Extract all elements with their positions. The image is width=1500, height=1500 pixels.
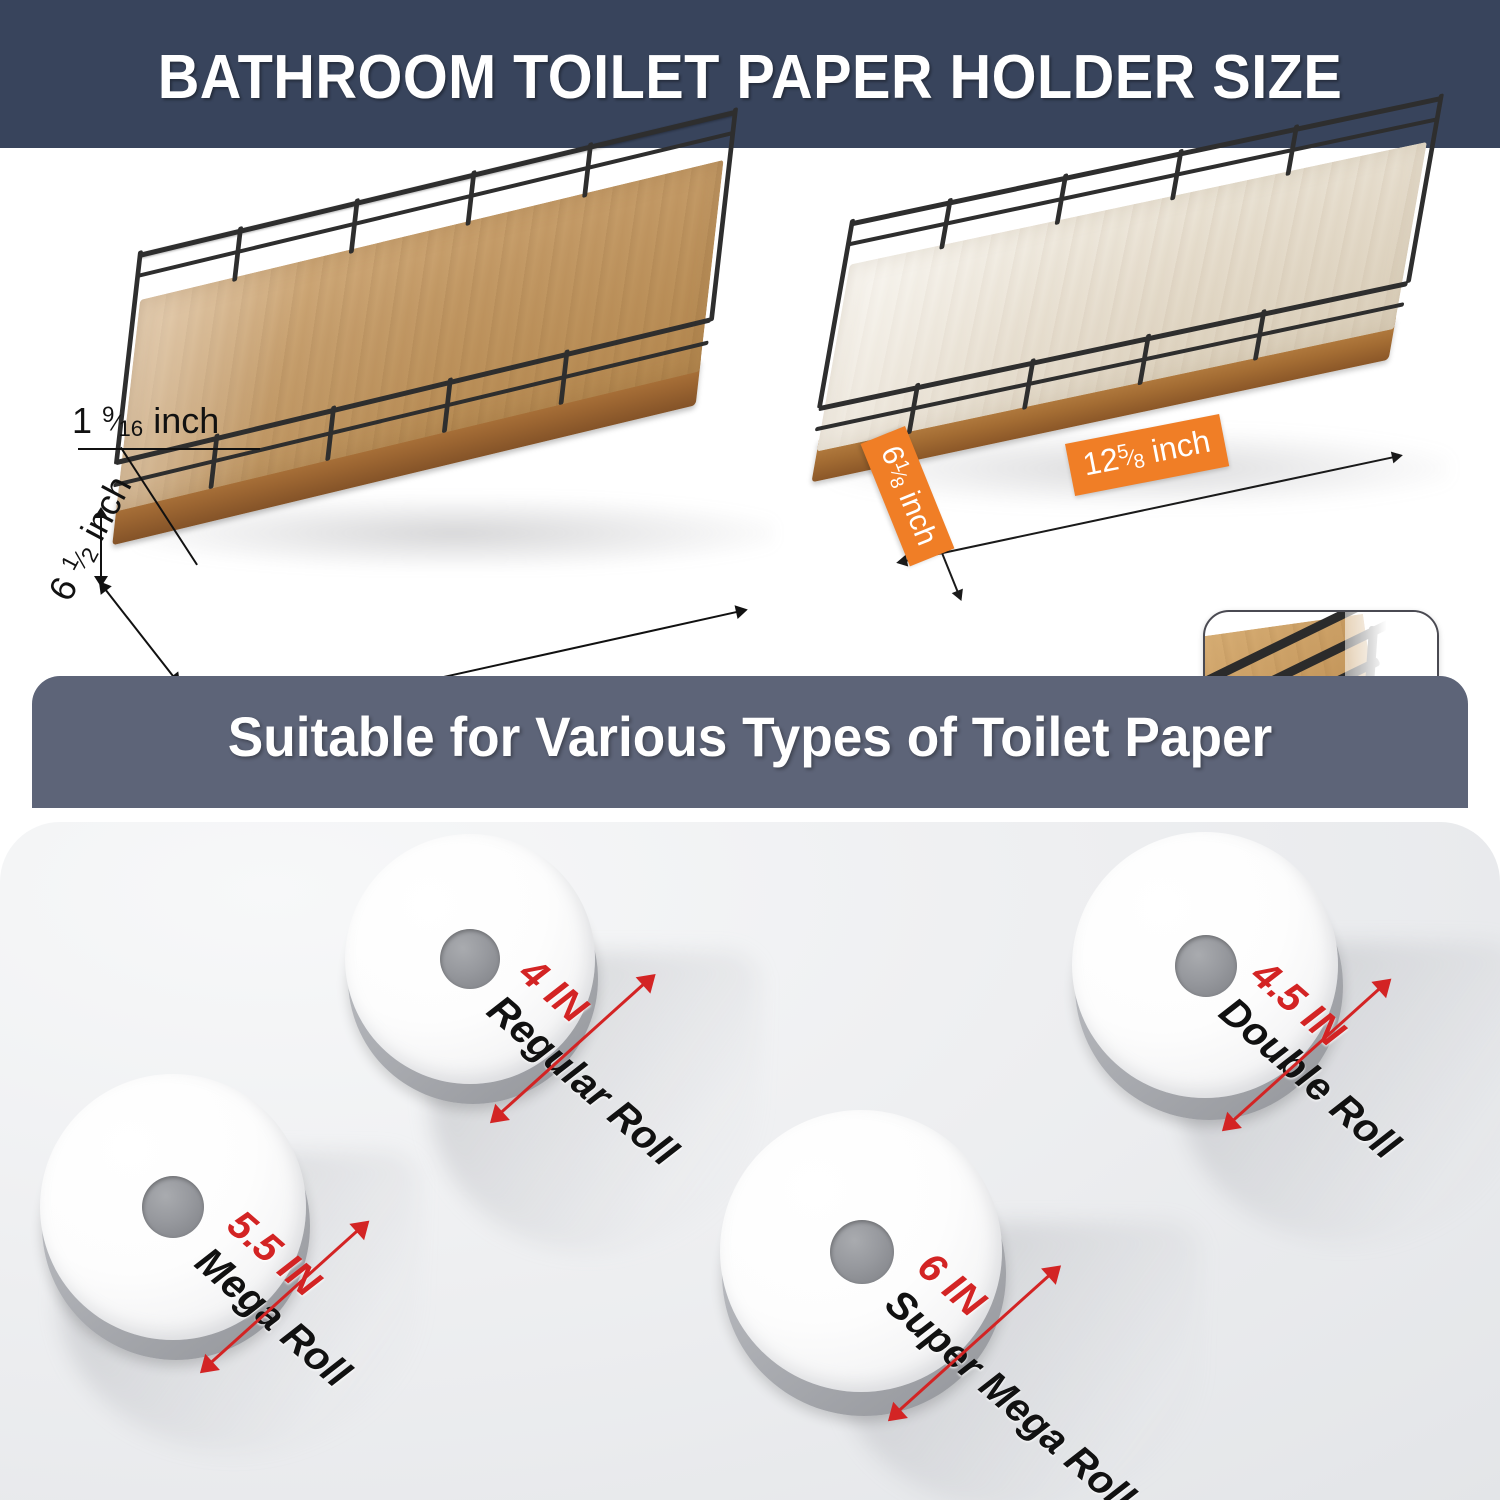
toilet-roll-comparison-panel: 5.5 IN Mega Roll 4 IN Regular Roll 6 I (0, 822, 1500, 1500)
product-dimension-section: 1 9⁄16 inch 6 1⁄2 inch 13 inch (0, 148, 1500, 678)
page-title: BATHROOM TOILET PAPER HOLDER SIZE (53, 42, 1448, 113)
sub-banner-title: Suitable for Various Types of Toilet Pap… (68, 704, 1432, 769)
infographic-stage: BATHROOM TOILET PAPER HOLDER SIZE (0, 0, 1500, 1500)
height-leader-line (78, 448, 260, 450)
height-dimension-label: 1 9⁄16 inch (72, 400, 219, 444)
sub-banner: Suitable for Various Types of Toilet Pap… (32, 676, 1468, 814)
header-banner: BATHROOM TOILET PAPER HOLDER SIZE (0, 0, 1500, 148)
